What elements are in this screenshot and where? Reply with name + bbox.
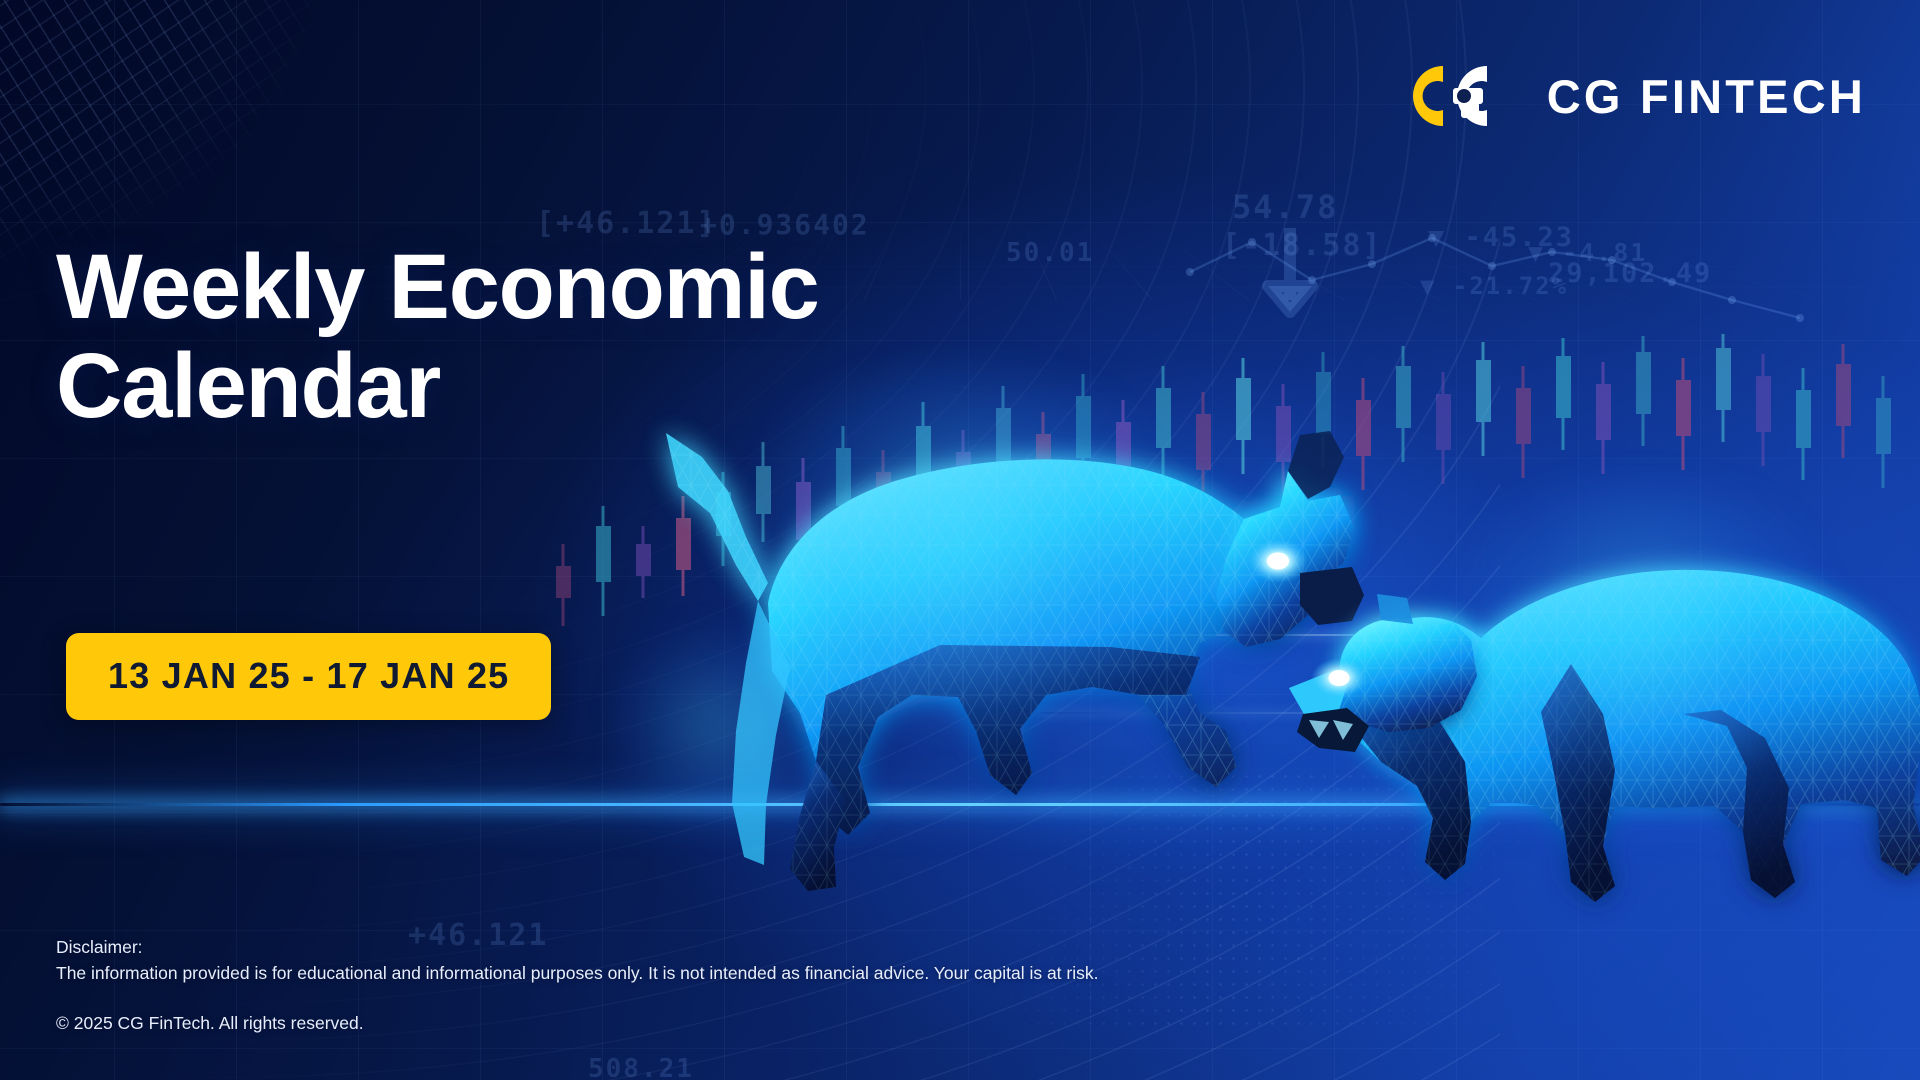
bear-svg bbox=[1285, 500, 1920, 930]
hud-readout-10: 508.21 bbox=[588, 1054, 694, 1080]
candlestick bbox=[1516, 366, 1531, 478]
trendline-point bbox=[1796, 314, 1804, 322]
trendline-point bbox=[1368, 260, 1376, 268]
candlestick bbox=[556, 544, 571, 626]
low-poly-bear-illustration bbox=[1285, 500, 1920, 930]
trendline-point bbox=[1186, 268, 1194, 276]
candlestick bbox=[1436, 372, 1451, 484]
candlestick bbox=[1556, 338, 1571, 450]
candlestick bbox=[1756, 354, 1771, 466]
candlestick bbox=[1716, 334, 1731, 442]
hud-readout-2: 50.01 bbox=[1006, 238, 1094, 268]
copyright-text: © 2025 CG FinTech. All rights reserved. bbox=[56, 1013, 1356, 1034]
page-title: Weekly Economic Calendar bbox=[56, 238, 819, 437]
cg-interlock-logo-icon bbox=[1401, 58, 1521, 134]
trendline-point bbox=[1308, 276, 1316, 284]
trendline-point bbox=[1548, 248, 1556, 256]
brand-logo[interactable]: CG FINTECH bbox=[1401, 58, 1866, 134]
brand-logo-text: CG FINTECH bbox=[1547, 73, 1866, 120]
candlestick bbox=[596, 506, 611, 616]
trendline-point bbox=[1248, 238, 1256, 246]
disclaimer-body: The information provided is for educatio… bbox=[56, 960, 1356, 987]
hud-readout-4: [-18.58] bbox=[1222, 228, 1383, 263]
hud-readout-8: ▼ -21.72% bbox=[1420, 272, 1568, 300]
candlestick bbox=[1796, 368, 1811, 480]
hud-readout-7: 29,102.49 bbox=[1548, 258, 1712, 289]
bull-svg bbox=[640, 395, 1380, 915]
candlestick bbox=[1836, 344, 1851, 458]
candlestick bbox=[1876, 376, 1891, 488]
down-arrow-icon bbox=[1268, 228, 1312, 312]
trendline-point bbox=[1668, 278, 1676, 286]
hud-readout-3: 54.78 bbox=[1232, 188, 1338, 226]
candlestick bbox=[1596, 362, 1611, 474]
trendline-point bbox=[1488, 262, 1496, 270]
page-title-line-1: Weekly Economic bbox=[56, 238, 819, 337]
low-poly-bull-illustration bbox=[640, 395, 1380, 915]
weekly-economic-calendar-banner: [+46.121]+0.93640250.0154.78[-18.58]▼ -4… bbox=[0, 0, 1920, 1080]
trendline-point bbox=[1728, 296, 1736, 304]
date-range-badge[interactable]: 13 JAN 25 - 17 JAN 25 bbox=[66, 633, 551, 720]
trendline-point bbox=[1428, 234, 1436, 242]
page-title-line-2: Calendar bbox=[56, 337, 819, 436]
disclaimer-title: Disclaimer: bbox=[56, 934, 1356, 961]
candlestick bbox=[1396, 346, 1411, 462]
candlestick bbox=[1636, 336, 1651, 446]
hud-readout-5: ▼ -45.23 bbox=[1428, 222, 1574, 253]
footer: Disclaimer: The information provided is … bbox=[56, 934, 1356, 1034]
candlestick bbox=[1676, 358, 1691, 470]
trendline-point bbox=[1608, 256, 1616, 264]
candlestick bbox=[1476, 342, 1491, 456]
hud-readout-6: ▼ -4.81 bbox=[1528, 238, 1647, 267]
